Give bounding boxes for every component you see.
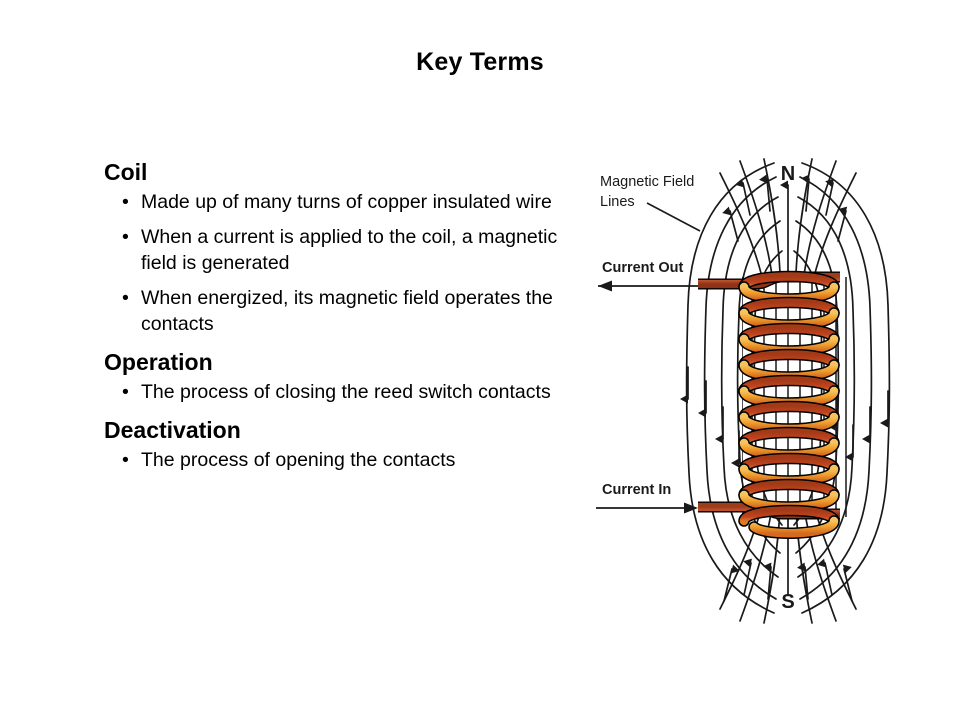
list-item: • The process of opening the contacts (104, 448, 574, 474)
bullet-list-operation: • The process of closing the reed switch… (104, 380, 574, 406)
page-title: Key Terms (0, 48, 960, 77)
magnetic-field-lines-label-line2: Lines (600, 194, 635, 210)
current-out-callout: Current Out (598, 260, 698, 292)
list-item: • The process of closing the reed switch… (104, 380, 574, 406)
list-item: • When energized, its magnetic field ope… (104, 286, 574, 338)
bullet-glyph: • (122, 225, 129, 251)
slide: Key Terms Coil • Made up of many turns o… (0, 0, 960, 720)
solenoid-magnetic-field-diagram: Magnetic Field Lines Current Out Current… (590, 155, 960, 625)
bullet-glyph: • (122, 286, 129, 312)
bullet-glyph: • (122, 448, 129, 474)
list-item: • Made up of many turns of copper insula… (104, 190, 574, 216)
current-in-label: Current In (602, 482, 671, 498)
bullet-list-deactivation: • The process of opening the contacts (104, 448, 574, 474)
term-heading-coil: Coil (104, 158, 574, 186)
bullet-list-coil: • Made up of many turns of copper insula… (104, 190, 574, 338)
term-section-deactivation: Deactivation • The process of opening th… (104, 416, 574, 474)
magnetic-field-lines-label-line1: Magnetic Field (600, 174, 694, 190)
north-pole-label: N (781, 163, 795, 185)
list-item-text: When a current is applied to the coil, a… (141, 226, 557, 274)
list-item: • When a current is applied to the coil,… (104, 225, 574, 277)
list-item-text: The process of closing the reed switch c… (141, 381, 551, 403)
content-body: Coil • Made up of many turns of copper i… (104, 158, 574, 474)
bullet-glyph: • (122, 380, 129, 406)
list-item-text: When energized, its magnetic field opera… (141, 287, 553, 335)
current-out-label: Current Out (602, 260, 684, 276)
list-item-text: Made up of many turns of copper insulate… (141, 191, 552, 213)
term-heading-operation: Operation (104, 348, 574, 376)
list-item-text: The process of opening the contacts (141, 449, 455, 471)
term-section-operation: Operation • The process of closing the r… (104, 348, 574, 406)
term-section-coil: Coil • Made up of many turns of copper i… (104, 158, 574, 338)
term-heading-deactivation: Deactivation (104, 416, 574, 444)
south-pole-label: S (781, 591, 794, 613)
bullet-glyph: • (122, 190, 129, 216)
